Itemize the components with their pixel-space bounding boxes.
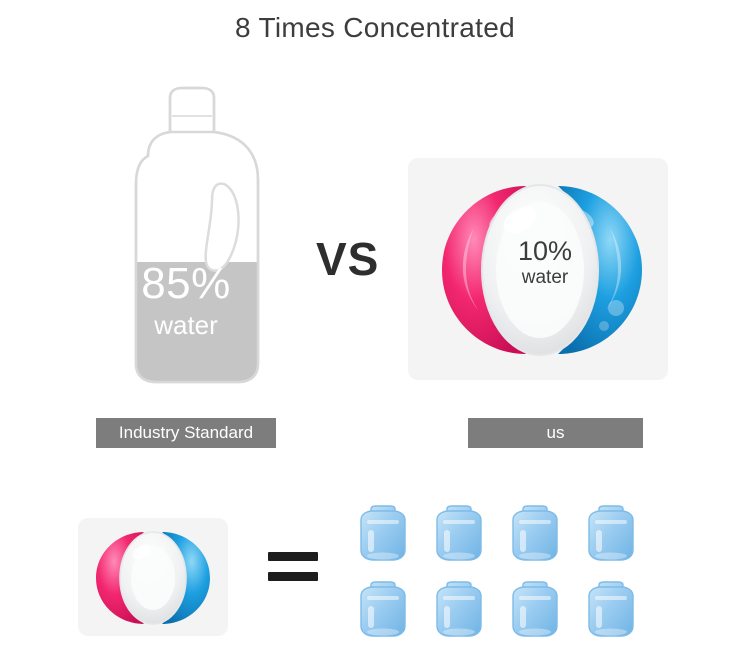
detergent-cap-1 bbox=[352, 504, 414, 562]
caption-industry-standard: Industry Standard bbox=[96, 418, 276, 448]
detergent-bottle-illustration bbox=[86, 72, 286, 392]
detergent-cap-7 bbox=[504, 580, 566, 638]
detergent-cap-2 bbox=[428, 504, 490, 562]
pod-small-svg bbox=[78, 518, 228, 636]
pod-large-svg bbox=[408, 158, 668, 380]
detergent-pod-illustration-small bbox=[78, 518, 228, 636]
cap-svg bbox=[428, 580, 490, 638]
equals-sign bbox=[268, 548, 318, 588]
caption-us: us bbox=[468, 418, 643, 448]
bottle-svg bbox=[86, 72, 286, 392]
vs-label: VS bbox=[316, 232, 379, 286]
detergent-cap-4 bbox=[580, 504, 642, 562]
detergent-cap-5 bbox=[352, 580, 414, 638]
equals-bar-bottom bbox=[268, 572, 318, 581]
page-title: 8 Times Concentrated bbox=[0, 12, 750, 44]
cap-svg bbox=[352, 580, 414, 638]
equals-bar-top bbox=[268, 552, 318, 561]
cap-svg bbox=[580, 504, 642, 562]
product-infographic: 8 Times Concentrated 85% wa bbox=[0, 0, 750, 668]
cap-svg bbox=[504, 580, 566, 638]
detergent-cap-3 bbox=[504, 504, 566, 562]
cap-svg bbox=[504, 504, 566, 562]
cap-svg bbox=[428, 504, 490, 562]
detergent-caps-grid bbox=[352, 504, 642, 638]
detergent-cap-8 bbox=[580, 580, 642, 638]
cap-svg bbox=[352, 504, 414, 562]
detergent-pod-illustration-large bbox=[408, 158, 668, 380]
cap-svg bbox=[580, 580, 642, 638]
detergent-cap-6 bbox=[428, 580, 490, 638]
